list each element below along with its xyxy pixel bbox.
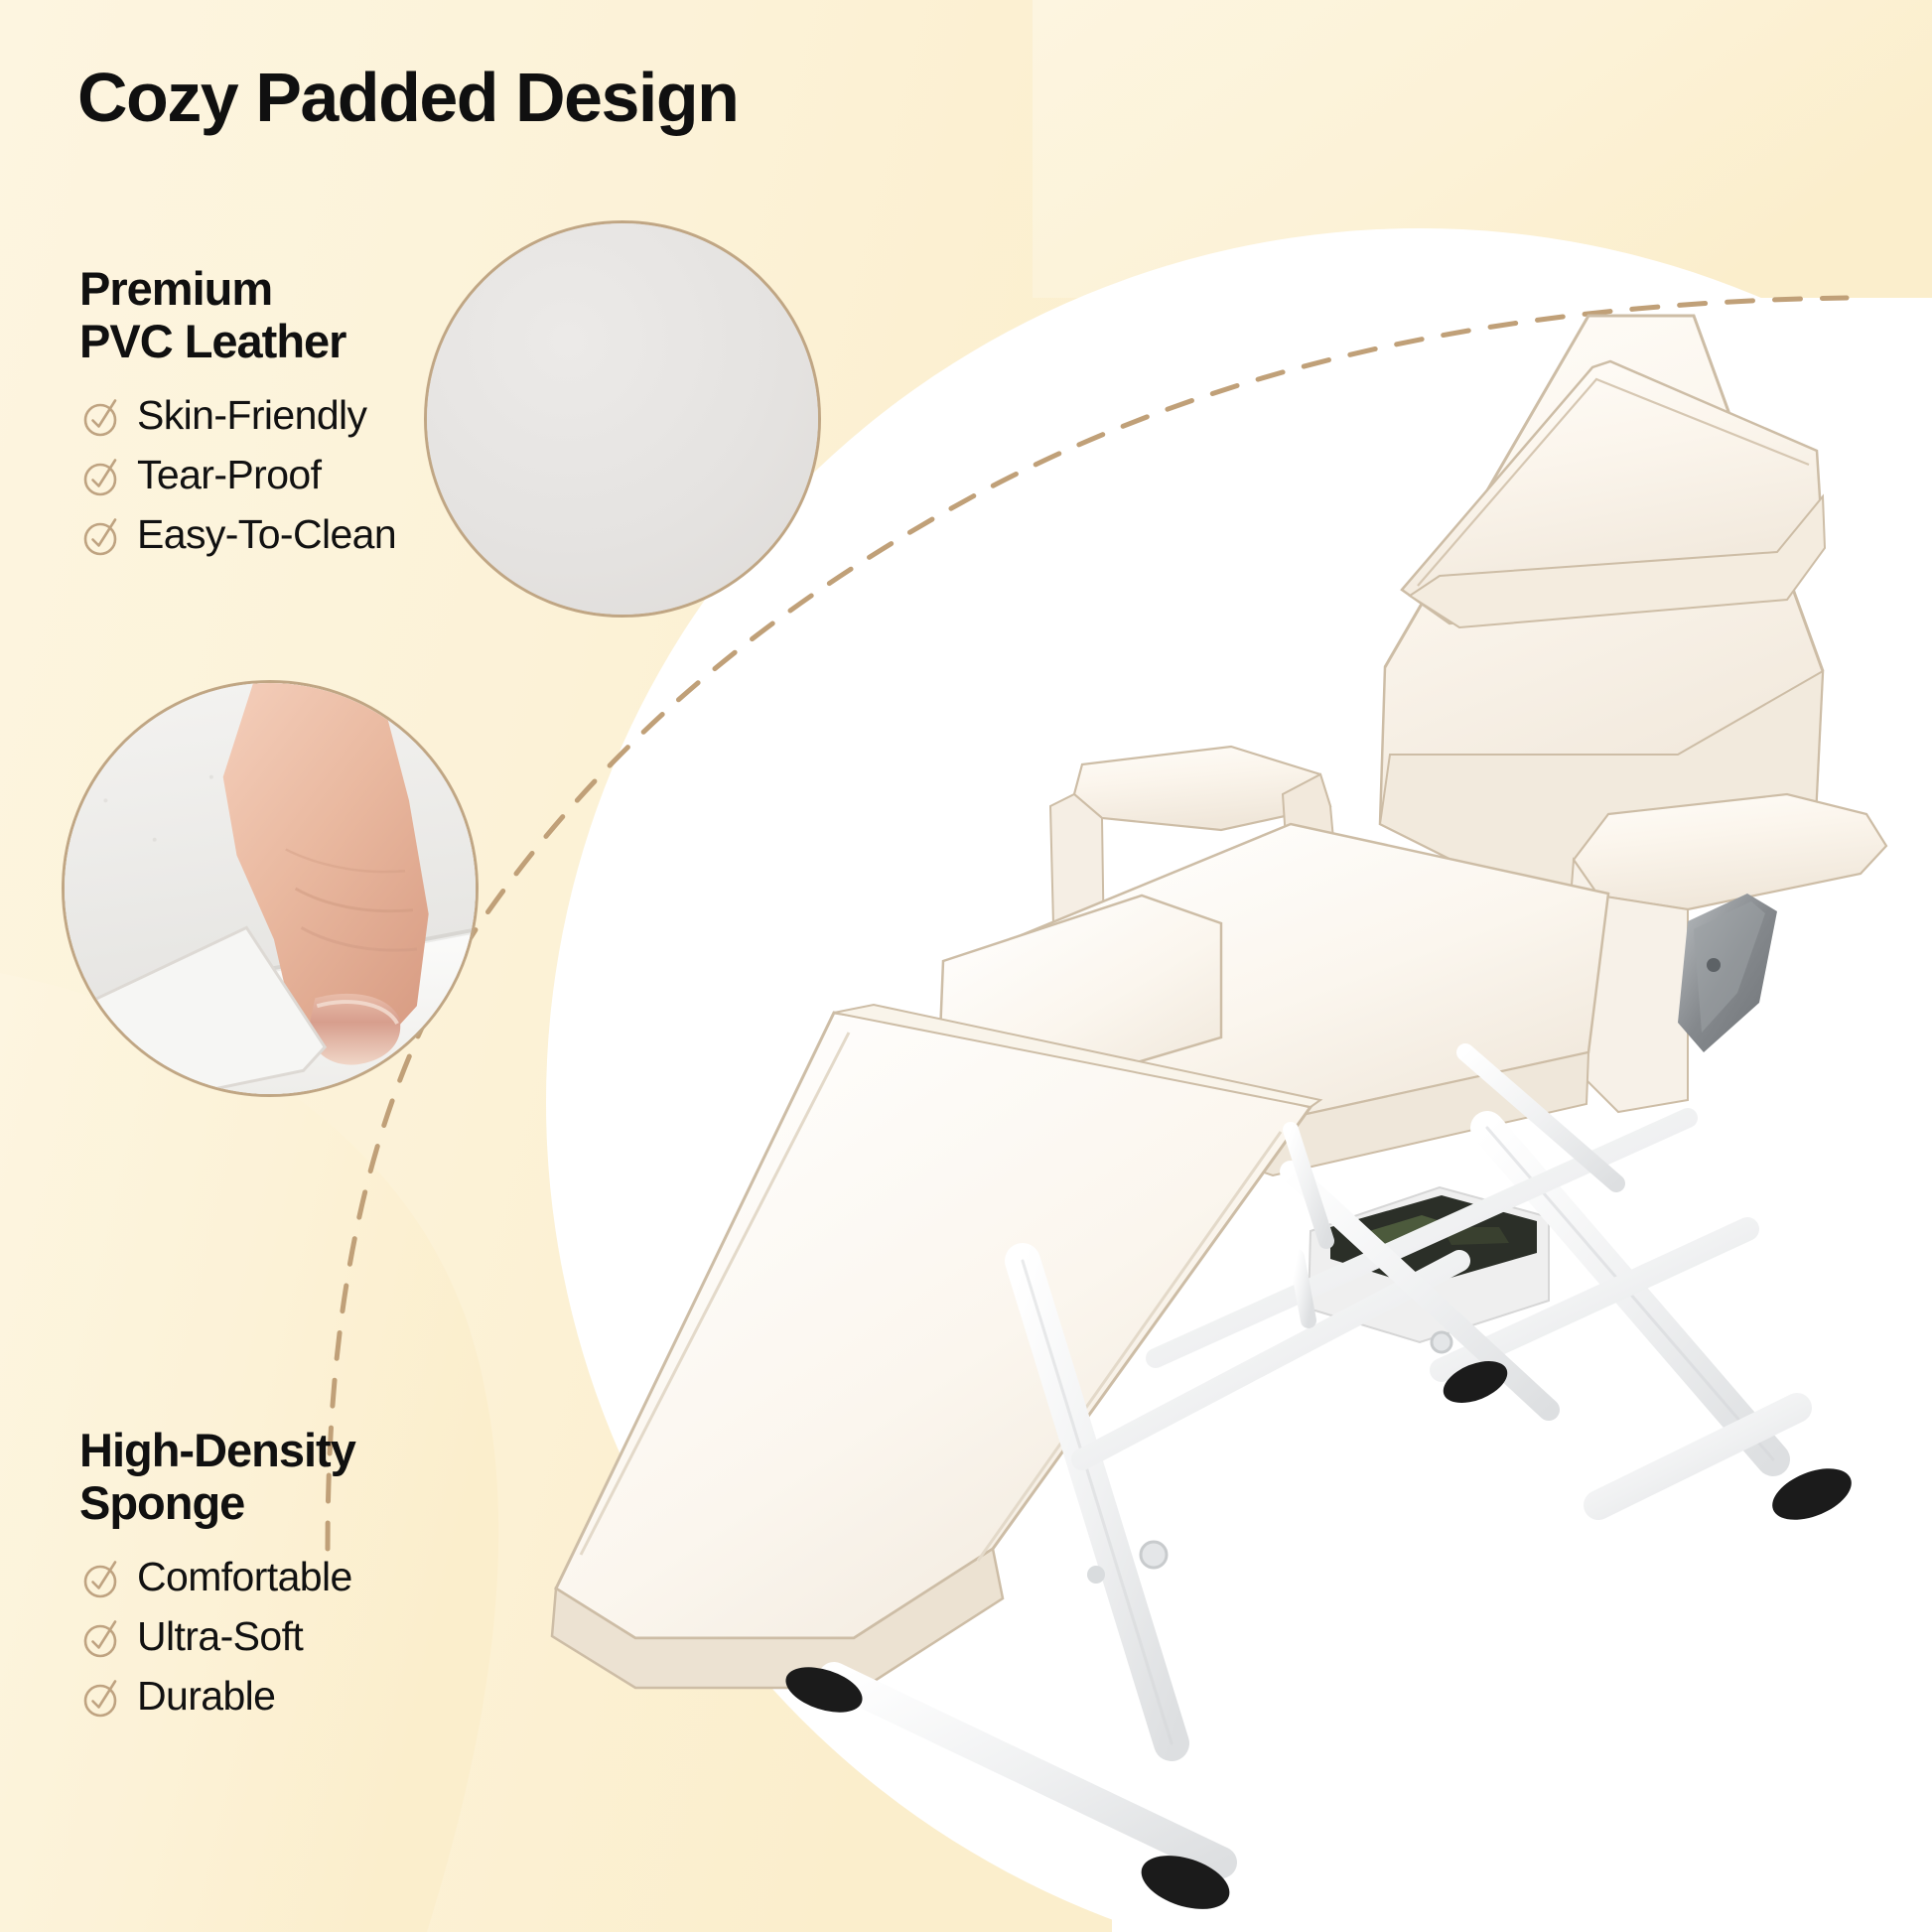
check-circle-icon — [79, 1616, 123, 1660]
check-circle-icon — [79, 395, 123, 439]
list-item: Skin-Friendly — [79, 393, 396, 437]
list-item: Durable — [79, 1674, 355, 1718]
inset-sponge-press-closeup — [62, 680, 479, 1097]
check-circle-icon — [79, 455, 123, 498]
list-item: Easy-To-Clean — [79, 512, 396, 556]
check-circle-icon — [79, 514, 123, 558]
bullet-label: Durable — [137, 1676, 275, 1717]
feature-bullet-list: Skin-Friendly Tear-Proof Easy-To-Clean — [79, 393, 396, 556]
page-title: Cozy Padded Design — [77, 60, 738, 136]
inset-leather-texture-closeup — [424, 220, 821, 618]
feature-block-premium-pvc-leather: Premium PVC Leather Skin-Friendly Tear-P… — [79, 263, 396, 572]
list-item: Comfortable — [79, 1555, 355, 1598]
leather-texture-surface — [427, 223, 818, 615]
bullet-label: Comfortable — [137, 1557, 352, 1597]
list-item: Ultra-Soft — [79, 1614, 355, 1658]
bullet-label: Tear-Proof — [137, 455, 321, 495]
bullet-label: Easy-To-Clean — [137, 514, 396, 555]
bullet-label: Ultra-Soft — [137, 1616, 303, 1657]
feature-block-high-density-sponge: High-Density Sponge Comfortable Ultra-So… — [79, 1425, 355, 1733]
bullet-label: Skin-Friendly — [137, 395, 366, 436]
feature-title: High-Density Sponge — [79, 1425, 355, 1529]
check-circle-icon — [79, 1676, 123, 1720]
feature-title: Premium PVC Leather — [79, 263, 396, 367]
list-item: Tear-Proof — [79, 453, 396, 496]
promo-graphic: Cozy Padded Design Premium PVC Leather S… — [0, 0, 1932, 1932]
check-circle-icon — [79, 1557, 123, 1600]
feature-bullet-list: Comfortable Ultra-Soft Durable — [79, 1555, 355, 1718]
